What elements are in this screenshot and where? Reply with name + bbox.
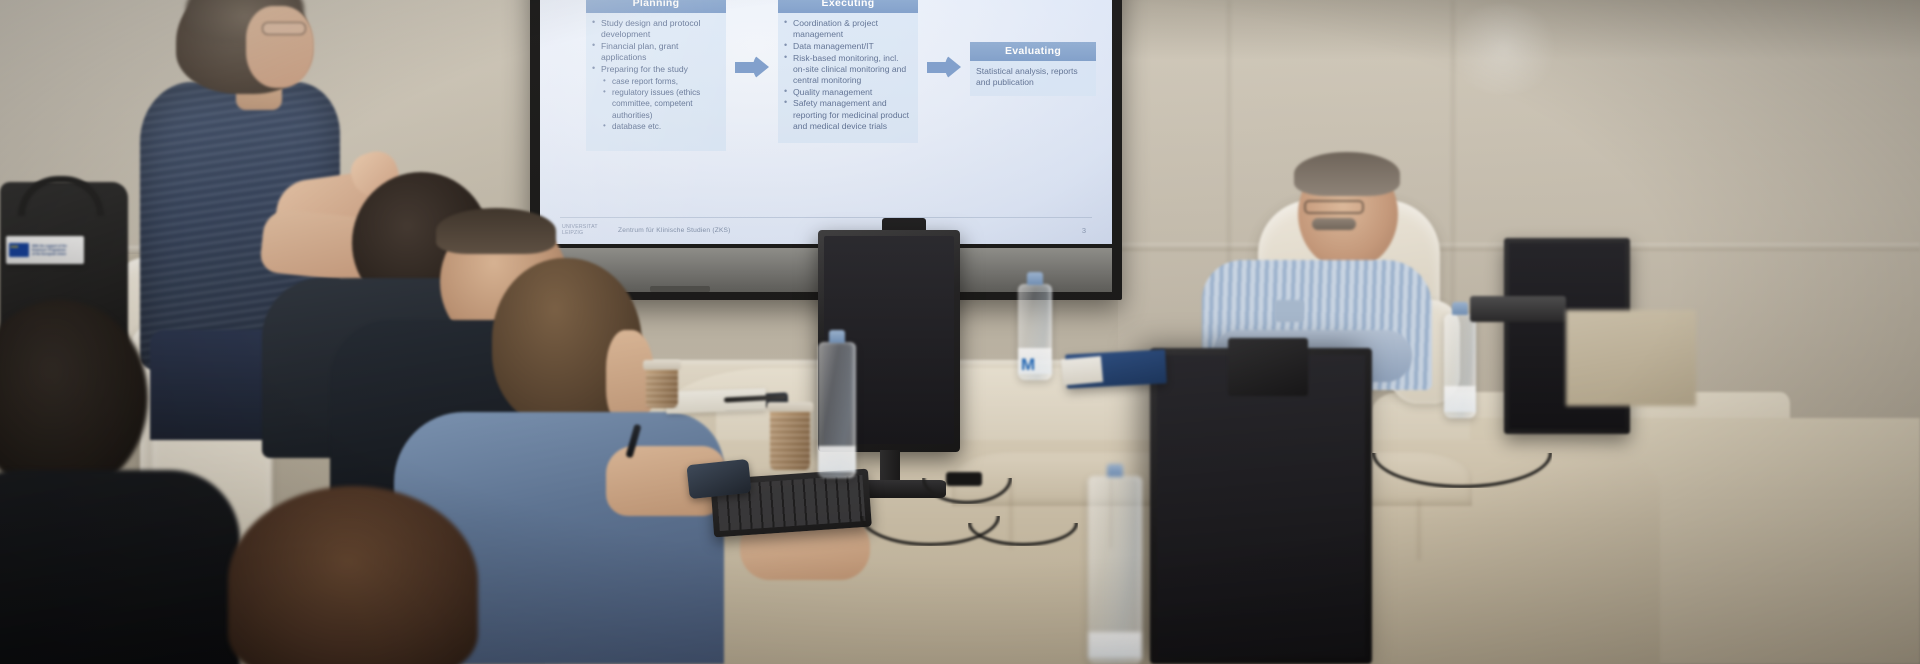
stage-box-planning: Planning Study design and protocol devel…: [586, 0, 726, 151]
presentation-slide: support at all stages of a clinical tria…: [540, 0, 1112, 244]
water-bottle-foreground: [1088, 476, 1142, 664]
attendee-d-torso: [0, 470, 240, 664]
stage-heading-executing: Executing: [778, 0, 918, 13]
placard-line-3: of the European Union: [32, 252, 66, 256]
stage-body-planning: Study design and protocol development Fi…: [586, 13, 726, 151]
bottle-cap: [829, 330, 845, 343]
slide-divider: [560, 217, 1092, 218]
screen-notch: [650, 286, 710, 292]
smartphone[interactable]: [686, 459, 751, 499]
bullet-item: Coordination & project management: [782, 18, 912, 40]
water-bottle-center: M: [1018, 284, 1052, 380]
bullet-item: Financial plan, grant applications: [590, 41, 720, 63]
coffee-cup-far: [646, 366, 678, 408]
attendee-right-glasses: [1304, 200, 1364, 214]
cardboard-box: [1566, 310, 1696, 406]
stage-boxes: Planning Study design and protocol devel…: [586, 0, 1104, 151]
monitor-foreground-screen: [1157, 355, 1365, 657]
bullet-item: Quality management: [782, 87, 912, 98]
water-bottle-left: [818, 342, 856, 478]
cup-ridges: [646, 374, 678, 408]
cup-lid: [643, 360, 681, 370]
university-logo: UNIVERSITAT LEIPZIG: [562, 224, 598, 236]
cup-ridges: [770, 416, 810, 470]
table-groove-5: [1418, 500, 1420, 560]
logo-line-2: LEIPZIG: [562, 230, 583, 236]
presenter-glasses: [262, 22, 306, 35]
erasmus-placard: With the support of the Erasmus+ Program…: [6, 236, 84, 264]
bottle-cap: [1027, 272, 1043, 285]
stage-body-evaluating: Statistical analysis, reports and public…: [970, 61, 1096, 96]
cable-connector: [946, 472, 982, 486]
spacer: [970, 0, 1096, 42]
arrow-planning-to-executing: [726, 0, 778, 80]
presenter-face: [246, 6, 314, 88]
attendee-b-hair: [436, 208, 556, 254]
wall-highlight: [1444, 4, 1564, 94]
attendee-right-hair: [1294, 152, 1400, 196]
stage-heading-planning: Planning: [586, 0, 726, 13]
conference-room-photo: support at all stages of a clinical tria…: [0, 0, 1920, 664]
stage-body-executing: Coordination & project management Data m…: [778, 13, 918, 143]
attendee-e-hair: [228, 486, 478, 664]
stage-box-executing: Executing Coordination & project managem…: [778, 0, 918, 143]
bullet-item: Preparing for the study: [590, 64, 720, 75]
evaluating-text: Statistical analysis, reports and public…: [974, 66, 1090, 88]
right-arrow-icon: [735, 54, 769, 80]
bottle-cap: [1107, 464, 1123, 477]
stage-box-evaluating: Evaluating Statistical analysis, reports…: [970, 0, 1096, 96]
placard-text: With the support of the Erasmus+ Program…: [32, 244, 67, 256]
screen-surface: support at all stages of a clinical tria…: [540, 0, 1112, 244]
arrow-executing-to-evaluating: [918, 0, 970, 80]
power-strip[interactable]: [1470, 296, 1566, 322]
bullet-item: Safety management and reporting for medi…: [782, 98, 912, 132]
cup-lid: [767, 402, 813, 412]
bullet-item: regulatory issues (ethics committee, com…: [590, 87, 720, 121]
bottle-logo: M: [1021, 356, 1034, 373]
bullet-item: Data management/IT: [782, 41, 912, 52]
bullet-item: database etc.: [590, 121, 720, 132]
folder-pages: [1061, 356, 1103, 385]
bullet-item: case report forms,: [590, 76, 720, 87]
right-arrow-icon: [927, 54, 961, 80]
attendee-right-moustache: [1312, 218, 1356, 230]
bullet-item: Study design and protocol development: [590, 18, 720, 40]
bottle-label: [818, 446, 856, 472]
bottle-label: [1444, 386, 1476, 412]
bullet-item: Risk-based monitoring, incl. on-site cli…: [782, 53, 912, 87]
water-bottle-right: [1444, 314, 1476, 418]
attendee-right-pocket: [1274, 300, 1304, 322]
coffee-cup-near: [770, 408, 810, 470]
bottle-label: [1088, 632, 1142, 658]
blue-folder: [1065, 349, 1167, 388]
eu-flag-icon: [9, 243, 29, 257]
bottle-cap: [1452, 302, 1468, 315]
monitor-small-center-right[interactable]: [1228, 338, 1308, 396]
slide-footer-org: Zentrum für Klinische Studien (ZKS): [618, 227, 731, 234]
bottle-label: M: [1018, 348, 1052, 374]
slide-page-number: 3: [1082, 226, 1086, 235]
stage-heading-evaluating: Evaluating: [970, 42, 1096, 61]
